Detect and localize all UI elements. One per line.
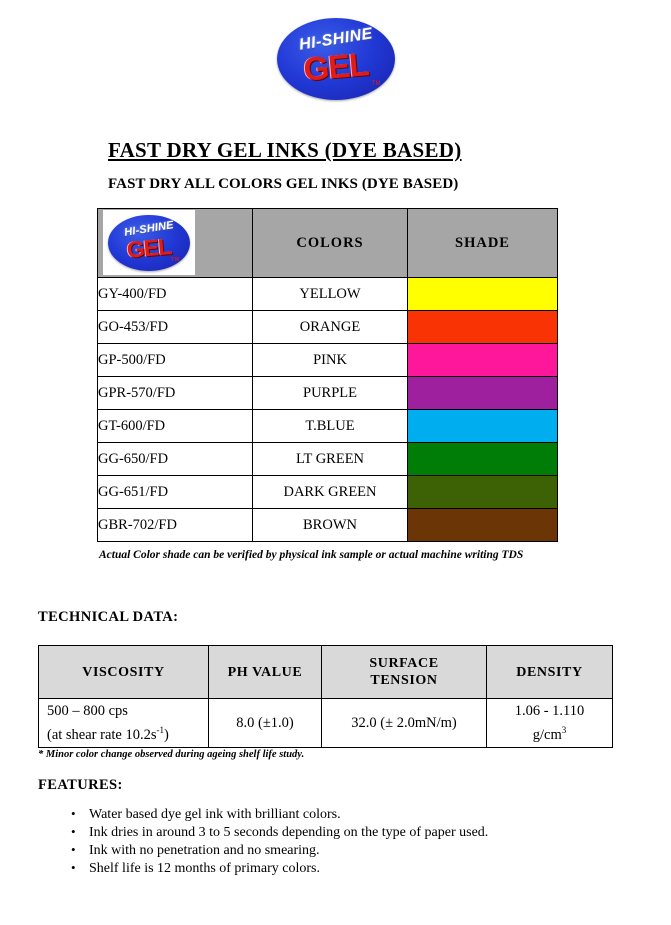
tech-value-density: 1.06 - 1.110 g/cm3 (487, 699, 613, 748)
logo-graphic: HI-SHINE GEL TM (277, 18, 395, 100)
color-swatch (408, 311, 557, 343)
tech-value-surface-tension: 32.0 (± 2.0mN/m) (322, 699, 487, 748)
color-shade-cell (408, 311, 558, 344)
color-table-header-logo-cell: HI-SHINE GEL TM (98, 209, 253, 278)
color-name-cell: PINK (253, 344, 408, 377)
color-table-header-shade: SHADE (408, 209, 558, 278)
color-name-cell: ORANGE (253, 311, 408, 344)
color-shade-cell (408, 344, 558, 377)
color-table-caption: Actual Color shade can be verified by ph… (99, 549, 523, 561)
technical-data-table: VISCOSITY PH VALUE SURFACE TENSION DENSI… (38, 645, 613, 748)
table-row: GG-650/FDLT GREEN (98, 443, 558, 476)
color-shade-cell (408, 410, 558, 443)
color-name-cell: YELLOW (253, 278, 408, 311)
tech-table-header-row: VISCOSITY PH VALUE SURFACE TENSION DENSI… (39, 646, 613, 699)
color-name-cell: BROWN (253, 509, 408, 542)
technical-data-footnote: * Minor color change observed during age… (38, 749, 304, 760)
tech-header-viscosity: VISCOSITY (39, 646, 209, 699)
color-code-cell: GG-651/FD (98, 476, 253, 509)
color-table-header-row: HI-SHINE GEL TM COLORS SHADE (98, 209, 558, 278)
color-name-cell: LT GREEN (253, 443, 408, 476)
table-row: GY-400/FDYELLOW (98, 278, 558, 311)
list-item: Ink with no penetration and no smearing. (89, 842, 488, 860)
viscosity-exponent: -1 (157, 725, 165, 735)
list-item: Water based dye gel ink with brilliant c… (89, 806, 488, 824)
density-line2-pre: g/cm (533, 726, 562, 742)
color-code-cell: GY-400/FD (98, 278, 253, 311)
color-shade-cell (408, 377, 558, 410)
color-swatch (408, 278, 557, 310)
color-shade-cell (408, 278, 558, 311)
color-code-cell: GPR-570/FD (98, 377, 253, 410)
color-code-cell: GO-453/FD (98, 311, 253, 344)
features-heading: FEATURES: (38, 777, 123, 794)
tech-table-value-row: 500 – 800 cps (at shear rate 10.2s-1) 8.… (39, 699, 613, 748)
features-list: Water based dye gel ink with brilliant c… (63, 806, 488, 878)
color-shade-cell (408, 443, 558, 476)
color-code-cell: GT-600/FD (98, 410, 253, 443)
header-logo-trademark-icon: TM (171, 257, 180, 263)
color-name-cell: DARK GREEN (253, 476, 408, 509)
color-shade-cell (408, 476, 558, 509)
color-swatch (408, 476, 557, 508)
viscosity-line1: 500 – 800 cps (47, 703, 128, 719)
list-item: Ink dries in around 3 to 5 seconds depen… (89, 824, 488, 842)
color-swatch (408, 410, 557, 442)
color-shade-cell (408, 509, 558, 542)
list-item: Shelf life is 12 months of primary color… (89, 860, 488, 878)
table-row: GBR-702/FDBROWN (98, 509, 558, 542)
tech-header-density: DENSITY (487, 646, 613, 699)
density-exponent: 3 (562, 725, 567, 735)
tech-header-ph-value: PH VALUE (209, 646, 322, 699)
tech-value-viscosity: 500 – 800 cps (at shear rate 10.2s-1) (39, 699, 209, 748)
color-code-cell: GP-500/FD (98, 344, 253, 377)
table-row: GP-500/FDPINK (98, 344, 558, 377)
color-swatch (408, 509, 557, 541)
color-table-header-colors: COLORS (253, 209, 408, 278)
header-logo-graphic: HI-SHINE GEL TM (108, 215, 190, 271)
tech-header-surface-line2: TENSION (370, 673, 437, 688)
logo-trademark-icon: TM (372, 81, 381, 87)
tech-header-surface-line1: SURFACE (369, 656, 438, 671)
density-line1: 1.06 - 1.110 (515, 703, 585, 719)
viscosity-line2-post: ) (164, 726, 169, 742)
color-swatch (408, 344, 557, 376)
page-title: FAST DRY GEL INKS (DYE BASED) (108, 138, 462, 163)
tech-header-surface-tension: SURFACE TENSION (322, 646, 487, 699)
technical-data-heading: TECHNICAL DATA: (38, 609, 178, 626)
color-table: HI-SHINE GEL TM COLORS SHADE GY-400/FDYE… (97, 208, 558, 542)
page-subtitle: FAST DRY ALL COLORS GEL INKS (DYE BASED) (108, 176, 458, 193)
table-row: GPR-570/FDPURPLE (98, 377, 558, 410)
color-swatch (408, 377, 557, 409)
color-code-cell: GBR-702/FD (98, 509, 253, 542)
color-name-cell: T.BLUE (253, 410, 408, 443)
header-logo-box: HI-SHINE GEL TM (103, 210, 195, 275)
color-table-body: GY-400/FDYELLOWGO-453/FDORANGEGP-500/FDP… (98, 278, 558, 542)
table-row: GG-651/FDDARK GREEN (98, 476, 558, 509)
table-row: GO-453/FDORANGE (98, 311, 558, 344)
color-swatch (408, 443, 557, 475)
table-row: GT-600/FDT.BLUE (98, 410, 558, 443)
color-code-cell: GG-650/FD (98, 443, 253, 476)
viscosity-line2-pre: (at shear rate 10.2s (47, 726, 157, 742)
tech-value-ph: 8.0 (±1.0) (209, 699, 322, 748)
company-logo: HI-SHINE GEL TM (0, 18, 671, 105)
color-name-cell: PURPLE (253, 377, 408, 410)
